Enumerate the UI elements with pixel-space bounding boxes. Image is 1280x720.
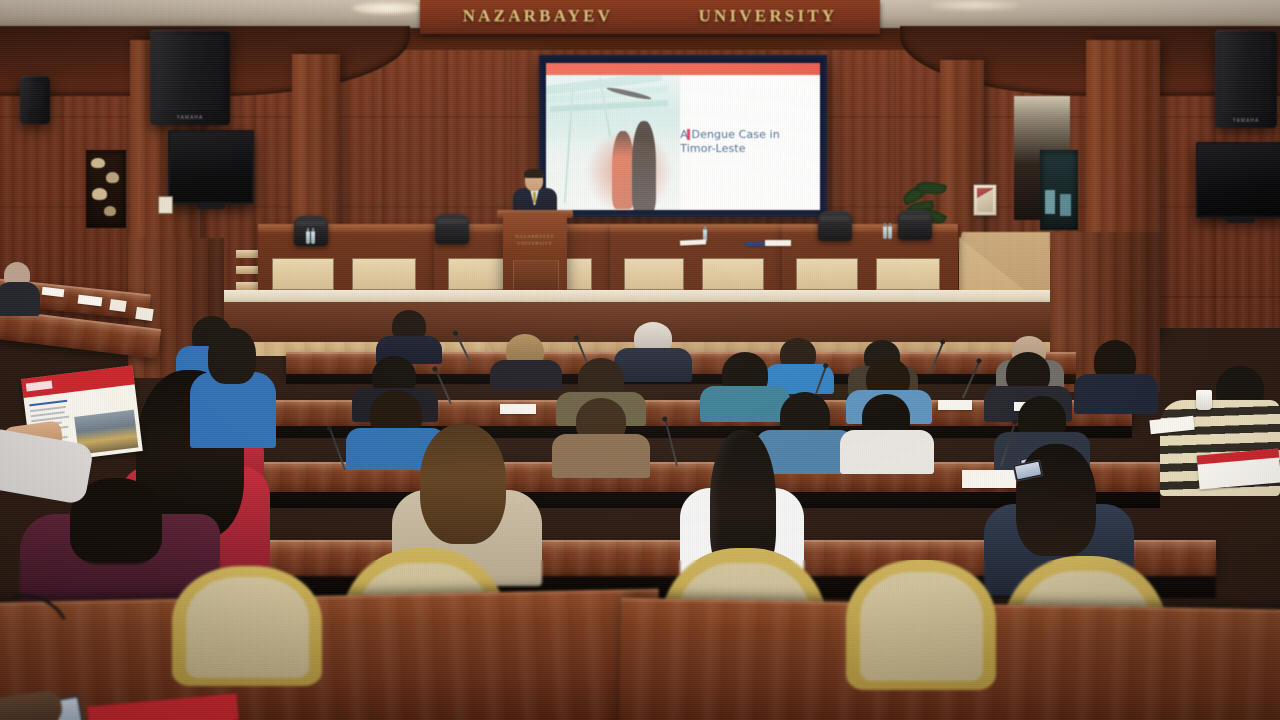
wall-sign-word-2: UNIVERSITY [699, 6, 838, 26]
audience-body [840, 430, 934, 474]
ceiling-light-icon [930, 0, 1020, 10]
document-on-desk [938, 400, 972, 410]
lectern-plaque-line-1: NAZARBAYEV [515, 234, 554, 241]
executive-chair [898, 210, 932, 240]
speaker-brand-mark: YAMAHA [1215, 118, 1277, 124]
water-bottle [883, 226, 887, 239]
name-card [135, 307, 154, 321]
framed-poster [973, 184, 997, 216]
paper-cup [1196, 390, 1212, 410]
foreground-desk [0, 589, 661, 720]
slide-photo [546, 75, 680, 210]
executive-chair [818, 211, 852, 241]
display-niche [1040, 150, 1078, 230]
ceiling-light-icon [352, 2, 422, 14]
slide-title: A Dengue Case in Timor-Leste [680, 128, 809, 157]
banquet-chair [846, 560, 996, 690]
water-bottle [888, 226, 892, 239]
water-bottle [311, 231, 315, 244]
projection-screen: A Dengue Case in Timor-Leste [539, 55, 827, 217]
slide-title-line-2: Timor-Leste [680, 142, 809, 157]
name-card [109, 299, 126, 312]
slide-top-band [546, 63, 820, 75]
document-on-table [745, 242, 767, 246]
loudspeaker-icon [20, 76, 50, 124]
water-bottle [306, 231, 310, 244]
audience-body [0, 282, 40, 316]
wall-sign-nazarbayev-university: NAZARBAYEV UNIVERSITY [420, 2, 880, 30]
document-on-desk [500, 404, 536, 414]
executive-chair [435, 214, 469, 244]
wall-monitor-screen [1196, 142, 1280, 218]
wall-notice-sign [158, 196, 173, 214]
loudspeaker-icon: YAMAHA [150, 30, 230, 125]
wall-sign-word-1: NAZARBAYEV [463, 6, 613, 26]
wall-monitor-screen [168, 130, 254, 204]
lectern-plaque: NAZARBAYEV UNIVERSITY [511, 229, 560, 253]
slide-title-line-1: A Dengue Case in [680, 128, 809, 143]
display-niche [86, 150, 126, 228]
audience-body [700, 386, 790, 422]
speaker-brand-mark: YAMAHA [150, 115, 230, 121]
document-on-table [765, 240, 791, 246]
audience-person-blue [188, 328, 278, 448]
banquet-chair [172, 566, 322, 686]
lectern-plaque-line-2: UNIVERSITY [517, 241, 553, 248]
audience-body [1074, 374, 1158, 414]
loudspeaker-icon: YAMAHA [1215, 30, 1277, 128]
audience-body [614, 348, 692, 382]
lecture-hall-photo: NAZARBAYEV UNIVERSITY YAMAHA YAMAHA [0, 0, 1280, 720]
audience-body [552, 434, 650, 478]
audience-body [490, 360, 562, 390]
handout-document [1197, 448, 1280, 489]
presentation-slide: A Dengue Case in Timor-Leste [546, 63, 820, 210]
